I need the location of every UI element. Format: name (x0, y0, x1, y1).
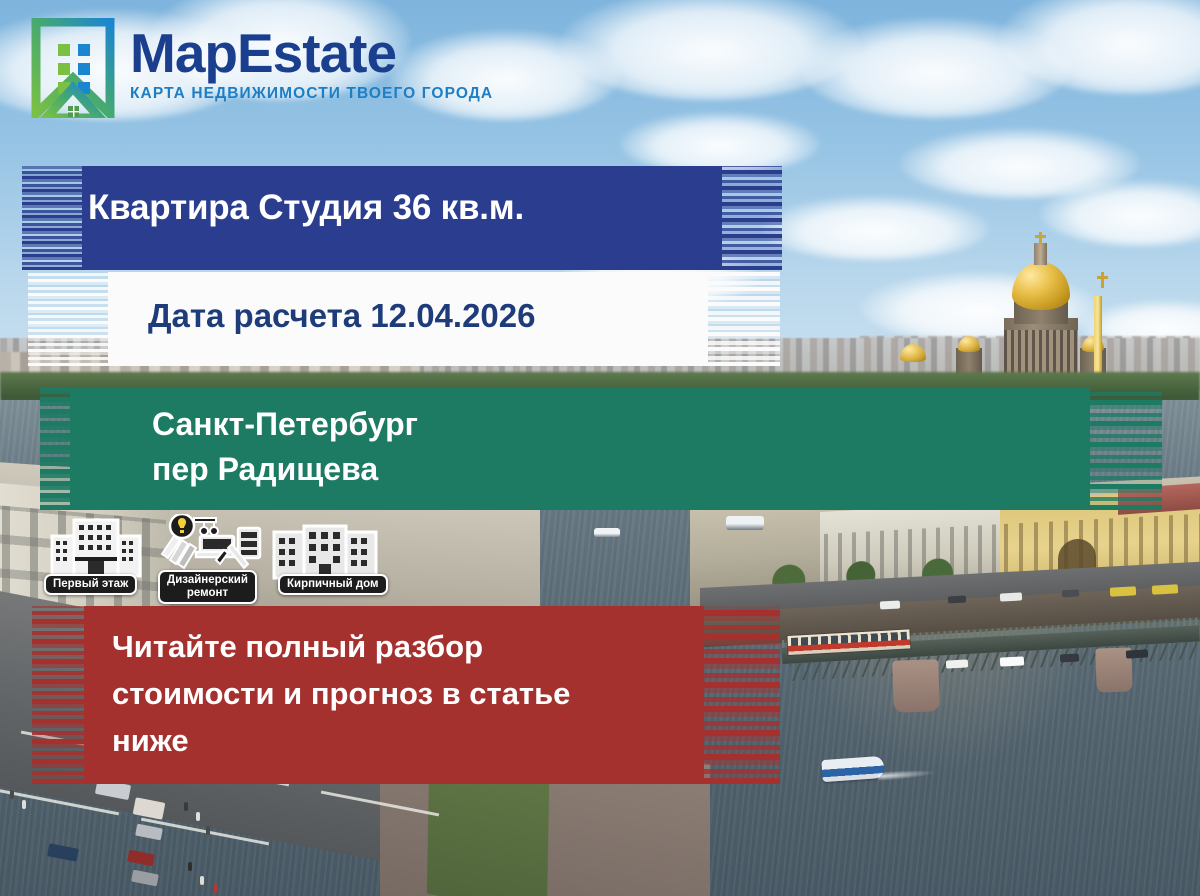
bus (1152, 584, 1178, 594)
pedestrian (188, 862, 192, 871)
badge-brick-house-label: Кирпичный дом (278, 574, 388, 595)
calculation-date: Дата расчета 12.04.2026 (148, 297, 768, 335)
cloud (760, 196, 990, 260)
cloud (620, 112, 820, 174)
badge-label-line-1: Дизайнерский (167, 574, 248, 587)
pedestrian (214, 884, 218, 893)
cta-text: Читайте полный разбор стоимости и прогно… (112, 623, 752, 764)
admiralty-spire-cross-icon (1101, 272, 1104, 288)
logo-text: MapEstate КАРТА НЕДВИЖИМОСТИ ТВОЕГО ГОРО… (130, 26, 493, 103)
car (1062, 590, 1079, 598)
logo[interactable]: MapEstate КАРТА НЕДВИЖИМОСТИ ТВОЕГО ГОРО… (30, 18, 540, 118)
badge-first-floor[interactable]: Первый этаж (44, 516, 154, 600)
cta-line-2: стоимости и прогноз в статье (112, 670, 752, 717)
feature-badges: Первый этаж (44, 516, 404, 600)
pedestrian (200, 876, 204, 885)
logo-tagline: КАРТА НЕДВИЖИМОСТИ ТВОЕГО ГОРОДА (130, 85, 493, 103)
bookmark-house-icon (30, 18, 116, 118)
car (880, 600, 900, 609)
car (1060, 654, 1079, 663)
cathedral-lantern (1034, 243, 1047, 265)
logo-name-map: Map (130, 22, 237, 84)
cta-line-1: Читайте полный разбор (112, 623, 752, 670)
badge-brick-house[interactable]: Кирпичный дом (270, 520, 400, 600)
pedestrian (206, 826, 210, 835)
car (946, 659, 968, 668)
car (1000, 592, 1022, 601)
location-text: Санкт-Петербург пер Радищева (152, 402, 1052, 493)
cta-line-3: ниже (112, 717, 752, 764)
location-city: Санкт-Петербург (152, 402, 1052, 447)
logo-name: MapEstate (130, 26, 493, 81)
car (1126, 649, 1148, 658)
pedestrian (184, 802, 188, 811)
bus (1110, 586, 1136, 596)
pedestrian (10, 790, 14, 799)
tour-boat (821, 756, 884, 782)
pedestrian (196, 812, 200, 821)
cathedral-cross-icon (1039, 232, 1042, 245)
van (1000, 656, 1024, 666)
logo-name-estate: Estate (237, 22, 396, 84)
car (948, 596, 966, 604)
bridge-pier (892, 659, 940, 713)
small-boat (726, 516, 764, 530)
badge-label-line-2: ремонт (167, 587, 248, 600)
pedestrian (22, 800, 26, 809)
badge-first-floor-label: Первый этаж (44, 574, 137, 595)
small-boat (594, 528, 620, 537)
location-street: пер Радищева (152, 447, 1052, 492)
badge-designer-renovation[interactable]: Дизайнерский ремонт (156, 514, 276, 602)
badge-designer-renovation-label: Дизайнерский ремонт (158, 570, 257, 604)
apartment-title: Квартира Студия 36 кв.м. (88, 188, 748, 228)
apartment-building-icon (44, 516, 148, 583)
